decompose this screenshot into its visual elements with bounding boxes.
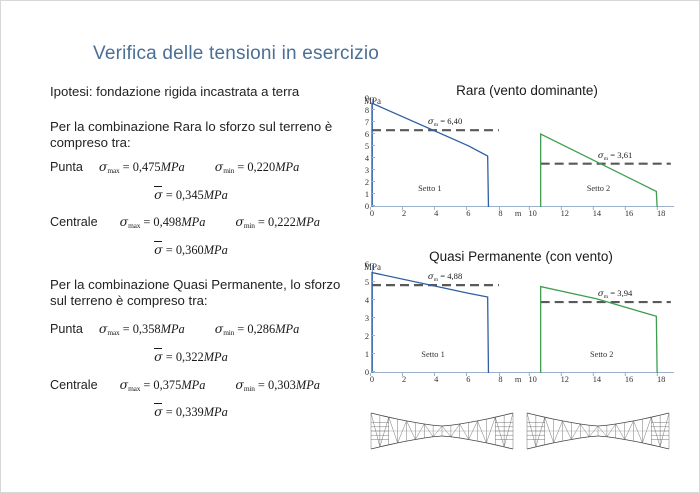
mesh-elements [371,413,513,449]
qp-punta-sigma-min: σmin = 0,286MPa [215,322,300,336]
slide-canvas: Verifica delle tensioni in esercizio Ipo… [0,0,700,493]
y-tick-label: 3 [359,167,369,175]
rara-punta-label: Punta [50,160,83,174]
x-tick-label: 6 [466,210,470,218]
chart-rara-title: Rara (vento dominante) [377,83,677,98]
qp-punta-row: Puntaσmax = 0,358MPaσmin = 0,286MPa [50,321,350,338]
mesh-setto2 [523,405,673,457]
x-tick-label: 16 [625,210,633,218]
mean-stress-annotation: σm = 6,40 [428,116,462,128]
series-label: Setto 1 [418,184,442,193]
rara-punta-sigma-media: σ = 0,345MPa [154,188,228,202]
mean-stress-annotation: σm = 3,61 [598,150,632,162]
qp-centrale-sigma-max: σmax = 0,375MPa [120,378,206,392]
qp-centrale-sigma-media: σ = 0,339MPa [154,405,228,419]
x-tick-label: 8 [498,210,502,218]
y-tick-label: 5 [359,279,369,287]
rara-centrale-row: Centraleσmax = 0,498MPaσmin = 0,222MPa [50,214,350,231]
qp-punta-sigma-media: σ = 0,322MPa [154,350,228,364]
y-tick-label: 1 [359,351,369,359]
y-tick-label: 5 [359,143,369,151]
rara-centrale-mean-row: σ = 0,360MPa [56,242,326,259]
x-tick-label: 4 [434,210,438,218]
qp-punta-mean-row: σ = 0,322MPa [56,349,326,366]
y-tick-label: 0 [359,369,369,377]
mean-stress-annotation: σm = 3,94 [598,288,632,300]
left-text-column: Ipotesi: fondazione rigida incastrata a … [50,84,350,421]
chart-quasi-permanente: Quasi Permanente (con vento) MPa 0123456… [353,251,693,403]
x-tick-label: 10 [528,210,536,218]
rara-punta-row: Puntaσmax = 0,475MPaσmin = 0,220MPa [50,159,350,176]
chart-rara-plot: 0123456789024681012141618mSetto 1σm = 6,… [372,99,674,207]
chart-rara: Rara (vento dominante) MPa 0123456789024… [353,85,693,237]
qp-centrale-label: Centrale [50,378,98,392]
qp-centrale-sigma-min: σmin = 0,303MPa [235,378,320,392]
qp-centrale-mean-row: σ = 0,339MPa [56,404,326,421]
y-tick-label: 3 [359,315,369,323]
mean-stress-annotation: σm = 4,88 [428,271,462,283]
chart-qp-title: Quasi Permanente (con vento) [371,249,671,264]
y-tick-label: 4 [359,155,369,163]
qp-intro-text: Per la combinazione Quasi Permanente, lo… [50,277,350,310]
x-tick-label: 10 [528,376,536,384]
mesh-setto2-svg [523,405,673,457]
x-tick-label: 14 [593,376,601,384]
charts-panel: Rara (vento dominante) MPa 0123456789024… [353,85,693,460]
y-tick-label: 1 [359,191,369,199]
y-tick-label: 0 [359,203,369,211]
x-tick-label: 16 [625,376,633,384]
rara-centrale-sigma-min: σmin = 0,222MPa [235,215,320,229]
x-axis-unit-label: m [515,210,522,218]
x-tick-label: 4 [434,376,438,384]
x-tick-label: 8 [498,376,502,384]
rara-centrale-sigma-media: σ = 0,360MPa [154,243,228,257]
y-tick-label: 6 [359,131,369,139]
x-tick-label: 12 [561,376,569,384]
x-tick-label: 14 [593,210,601,218]
y-tick-label: 9 [359,95,369,103]
x-tick-label: 2 [402,210,406,218]
y-tick-label: 8 [359,107,369,115]
series-label: Setto 2 [590,350,614,359]
rara-punta-mean-row: σ = 0,345MPa [56,187,326,204]
x-tick-label: 12 [561,210,569,218]
y-tick-label: 2 [359,333,369,341]
qp-punta-label: Punta [50,322,83,336]
series-label: Setto 1 [421,350,445,359]
rara-punta-sigma-max: σmax = 0,475MPa [99,160,185,174]
x-tick-label: 18 [657,376,665,384]
hypothesis-text: Ipotesi: fondazione rigida incastrata a … [50,84,350,101]
rara-centrale-sigma-max: σmax = 0,498MPa [120,215,206,229]
y-tick-label: 2 [359,179,369,187]
y-tick-label: 6 [359,261,369,269]
rara-centrale-label: Centrale [50,215,98,229]
x-tick-label: 18 [657,210,665,218]
x-tick-label: 0 [370,210,374,218]
qp-punta-sigma-max: σmax = 0,358MPa [99,322,185,336]
mesh-setto1-svg [367,405,517,457]
mesh-figures [353,405,693,463]
mesh-elements [527,413,669,449]
page-title: Verifica delle tensioni in esercizio [93,43,379,65]
y-tick-label: 7 [359,119,369,127]
series-label: Setto 2 [587,184,611,193]
x-tick-label: 0 [370,376,374,384]
qp-centrale-row: Centraleσmax = 0,375MPaσmin = 0,303MPa [50,377,350,394]
chart-qp-plot: 0123456024681012141618mSetto 1σm = 4,88S… [372,265,674,373]
stress-profile-line [541,134,657,207]
x-tick-label: 2 [402,376,406,384]
x-tick-label: 6 [466,376,470,384]
x-axis-unit-label: m [515,376,522,384]
chart-qp-svg [372,265,674,373]
rara-punta-sigma-min: σmin = 0,220MPa [215,160,300,174]
y-tick-label: 4 [359,297,369,305]
mesh-setto1 [367,405,517,457]
rara-intro-text: Per la combinazione Rara lo sforzo sul t… [50,119,350,152]
